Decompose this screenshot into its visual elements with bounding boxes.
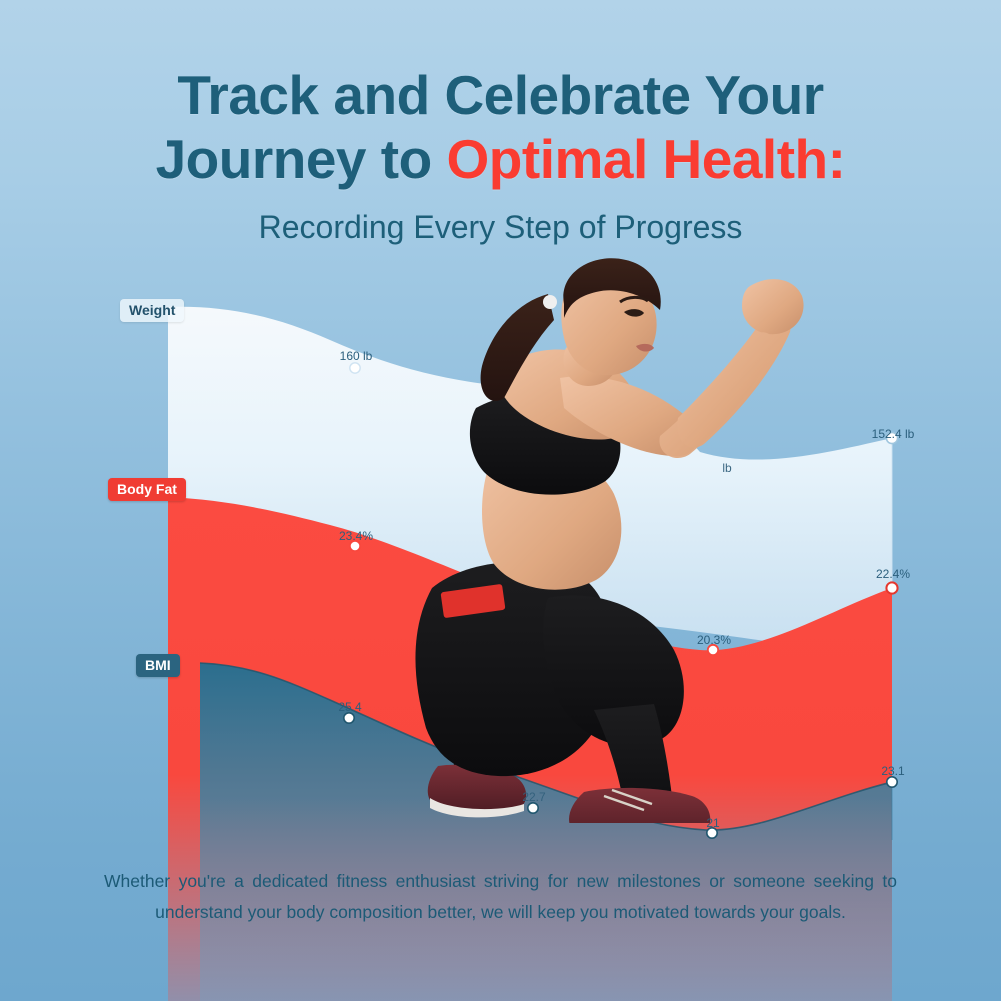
page-title-line-1: Track and Celebrate Your [0,68,1001,123]
bodyfat-label-2: 20.3% [697,633,731,647]
page-title-line-2: Journey to Optimal Health: [0,132,1001,187]
bmi-label-2: 22.7 [522,790,545,804]
weight-label-2: lb [722,461,731,475]
header: Track and Celebrate Your Journey to Opti… [0,0,1001,246]
page-title-plain: Journey to [156,128,447,190]
bmi-label-3: 21 [706,816,719,830]
weight-label-1: 160 lb [340,349,373,363]
bmi-label-1: 25.4 [338,700,361,714]
page-subtitle: Recording Every Step of Progress [0,209,1001,246]
bodyfat-label-1: 23.4% [339,529,373,543]
promo-banner: Track and Celebrate Your Journey to Opti… [0,0,1001,1001]
bodyfat-point-3[interactable] [886,582,897,593]
bodyfat-label-3: 22.4% [876,567,910,581]
weight-label-3: 152.4 lb [872,427,915,441]
legend-pill-bmi[interactable]: BMI [136,654,180,677]
page-title-accent: Optimal Health: [447,128,846,190]
footer-paragraph: Whether you're a dedicated fitness enthu… [104,866,897,927]
legend-pill-body-fat[interactable]: Body Fat [108,478,186,501]
bmi-point-4[interactable] [887,777,897,787]
bmi-label-4: 23.1 [881,764,904,778]
weight-point-1[interactable] [350,363,360,373]
bmi-point-2[interactable] [528,803,538,813]
bmi-point-1[interactable] [344,713,354,723]
legend-pill-weight[interactable]: Weight [120,299,184,322]
